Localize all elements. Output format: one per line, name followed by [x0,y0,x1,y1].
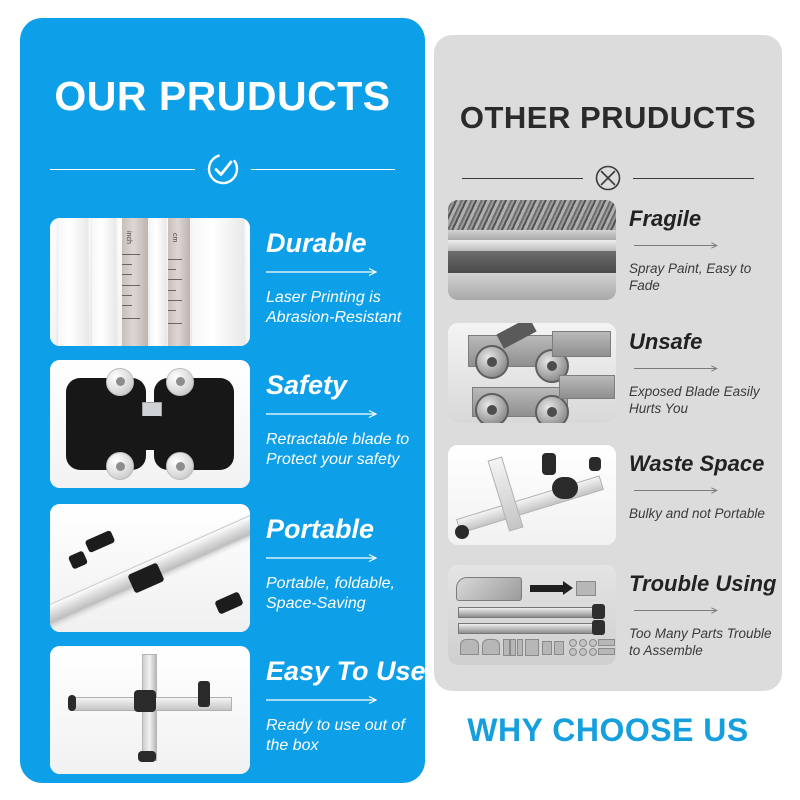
feature-description: Exposed Blade Easily Hurts You [629,384,768,417]
exposed-blade-rollers-photo [448,323,616,423]
divider-rule-left [50,169,195,170]
feature-title: Waste Space [629,453,768,475]
disassembled-parts-kit-photo [448,565,616,665]
divider-rule-right [633,178,754,179]
other-products-title: OTHER PRUDUCTS [434,102,782,133]
feature-description: Ready to use out of the box [266,716,426,756]
bulky-t-cutter-photo [448,445,616,545]
faded-spray-paint-rail-photo [448,200,616,300]
arrow-divider-icon [629,360,768,378]
feature-item-trouble-using: Trouble Using Too Many Parts Trouble to … [448,565,768,665]
feature-description: Portable, foldable, Space-Saving [266,574,418,614]
feature-title: Portable [266,516,418,543]
other-products-divider [462,163,754,193]
feature-title: Easy To Use [266,658,426,685]
laser-printed-ruler-photo: inch cm [50,218,250,346]
feature-description: Spray Paint, Easy to Fade [629,261,768,294]
why-choose-us-heading: WHY CHOOSE US [434,712,782,749]
arrow-divider-icon [629,482,768,500]
our-products-divider [50,151,395,187]
other-products-panel: OTHER PRUDUCTS [434,35,782,691]
feature-item-fragile: Fragile Spray Paint, Easy to Fade [448,200,768,300]
feature-item-safety: Safety Retractable blade to Protect your… [50,360,418,488]
feature-description: Laser Printing is Abrasion-Resistant [266,288,418,328]
arrow-divider-icon [266,406,418,424]
our-products-title: OUR PRUDUCTS [20,76,425,117]
divider-rule-left [462,178,583,179]
feature-title: Fragile [629,208,768,230]
foldable-aluminum-rail-photo [50,504,250,632]
feature-item-unsafe: Unsafe Exposed Blade Easily Hurts You [448,323,768,423]
feature-item-waste-space: Waste Space Bulky and not Portable [448,445,768,545]
our-products-panel: OUR PRUDUCTS inch [20,18,425,783]
arrow-divider-icon [266,264,418,282]
feature-item-durable: inch cm [50,218,418,346]
product-comparison-infographic: OUR PRUDUCTS inch [0,0,800,800]
feature-description: Retractable blade to Protect your safety [266,430,418,470]
feature-description: Too Many Parts Trouble to Assemble [629,626,777,659]
divider-rule-right [251,169,396,170]
cross-circle-icon [593,163,623,193]
feature-title: Durable [266,230,418,257]
feature-description: Bulky and not Portable [629,506,768,523]
feature-item-easy-to-use: Easy To Use Ready to use out of the box [50,646,418,774]
feature-item-portable: Portable Portable, foldable, Space-Savin… [50,504,418,632]
feature-title: Trouble Using [629,573,777,595]
arrow-divider-icon [629,237,768,255]
feature-title: Unsafe [629,331,768,353]
feature-title: Safety [266,372,418,399]
retractable-blade-head-photo [50,360,250,488]
arrow-divider-icon [266,550,418,568]
check-circle-icon [205,151,241,187]
assembled-t-square-cutter-photo [50,646,250,774]
arrow-divider-icon [629,602,777,620]
arrow-divider-icon [266,692,426,710]
